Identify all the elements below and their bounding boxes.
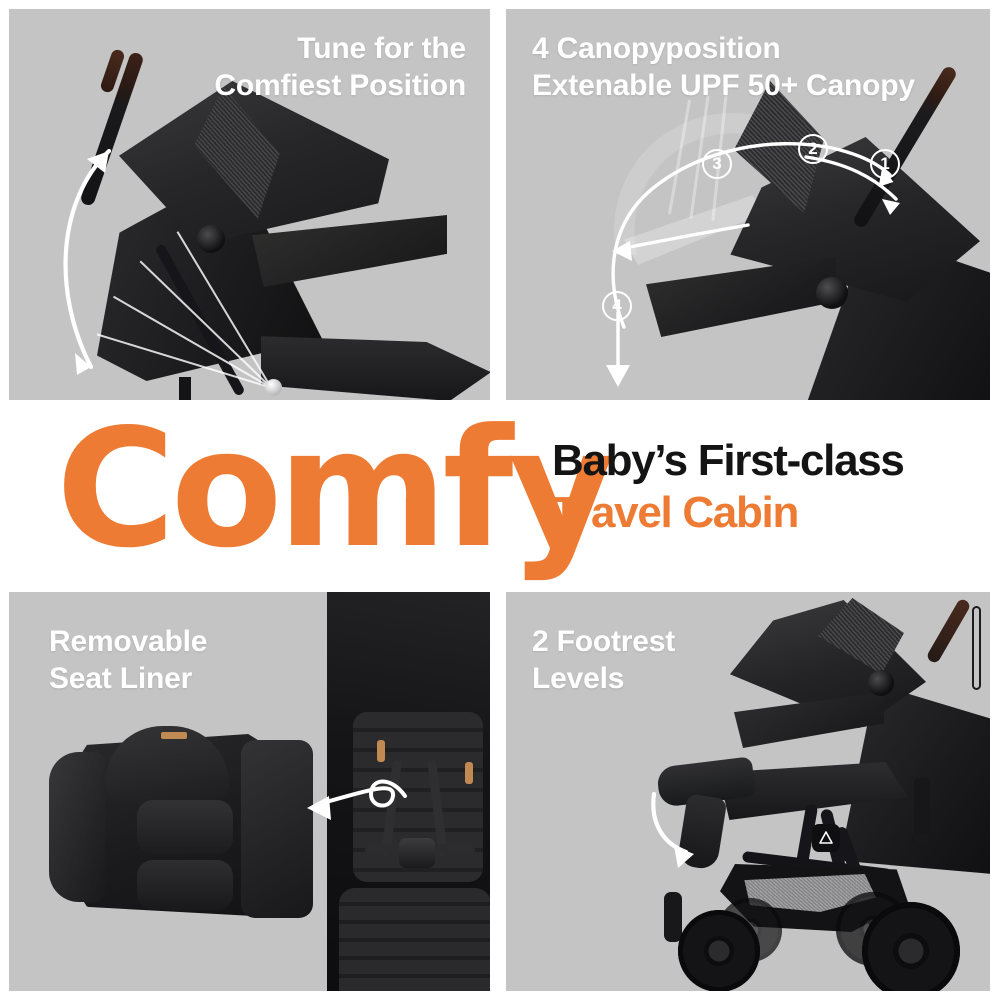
infographic-sheet: Tune for the Comfiest Position: [0, 0, 1000, 1000]
brand-tagline: Baby’s First-class Travel Cabin: [552, 438, 904, 536]
canopy-pivot-hub: [868, 670, 894, 696]
canopy-extension-flap: [252, 215, 447, 287]
brand-logo-badge: [812, 824, 840, 852]
liner-removal-arrow-icon: [279, 768, 419, 840]
brand-wordmark: Comfy: [56, 394, 610, 586]
canopy-pivot-hub: [197, 225, 225, 253]
panel-caption-canopy: 4 Canopyposition Extenable UPF 50+ Canop…: [532, 31, 915, 104]
canopy-arrow-4-icon: [602, 309, 662, 400]
front-wheel-fork: [664, 892, 682, 942]
tagline-secondary: Travel Cabin: [552, 490, 904, 537]
tagline-primary: Baby’s First-class: [552, 438, 904, 485]
canopy-position-marker-3: 3: [702, 149, 732, 179]
feature-panel-footrest: 2 Footrest Levels: [506, 592, 990, 991]
removable-liner-pad-lower: [137, 860, 233, 910]
stroller-handlebar: [925, 597, 971, 664]
harness-buckle: [399, 838, 435, 868]
triangle-logo-icon: [818, 830, 834, 846]
panel-caption-footrest: 2 Footrest Levels: [532, 624, 675, 697]
stroller-seat-cushion: [339, 888, 490, 991]
canopy-arrow-1-icon: [800, 149, 920, 229]
panel-caption-seat-liner: Removable Seat Liner: [49, 624, 207, 697]
seat-clip-ring: [912, 830, 932, 850]
feature-panel-seat-liner: Removable Seat Liner: [9, 592, 490, 991]
recline-range-arrow-icon: [29, 129, 159, 399]
wrist-safety-strap: [972, 606, 981, 690]
removable-liner-headwing: [49, 752, 105, 902]
liner-tab-tag: [465, 762, 473, 784]
panel-caption-recline: Tune for the Comfiest Position: [214, 31, 466, 104]
rear-wheel: [862, 902, 960, 991]
canopy-arrow-3-icon: [598, 215, 758, 275]
liner-brand-tag: [161, 732, 187, 739]
brand-banner: Comfy Baby’s First-class Travel Cabin: [0, 400, 1000, 592]
liner-tab-tag: [377, 740, 385, 762]
removable-liner-pad-upper: [137, 800, 233, 854]
feature-panel-canopy: 1 2 3 4 4 Canopyposition Extenable UPF 5…: [506, 9, 990, 400]
front-wheel: [678, 910, 760, 991]
stroller-seat-base: [261, 329, 490, 400]
seat-buckle-clip: [914, 778, 930, 834]
footrest-adjust-arrow-icon: [646, 788, 746, 888]
feature-panel-recline: Tune for the Comfiest Position: [9, 9, 490, 400]
